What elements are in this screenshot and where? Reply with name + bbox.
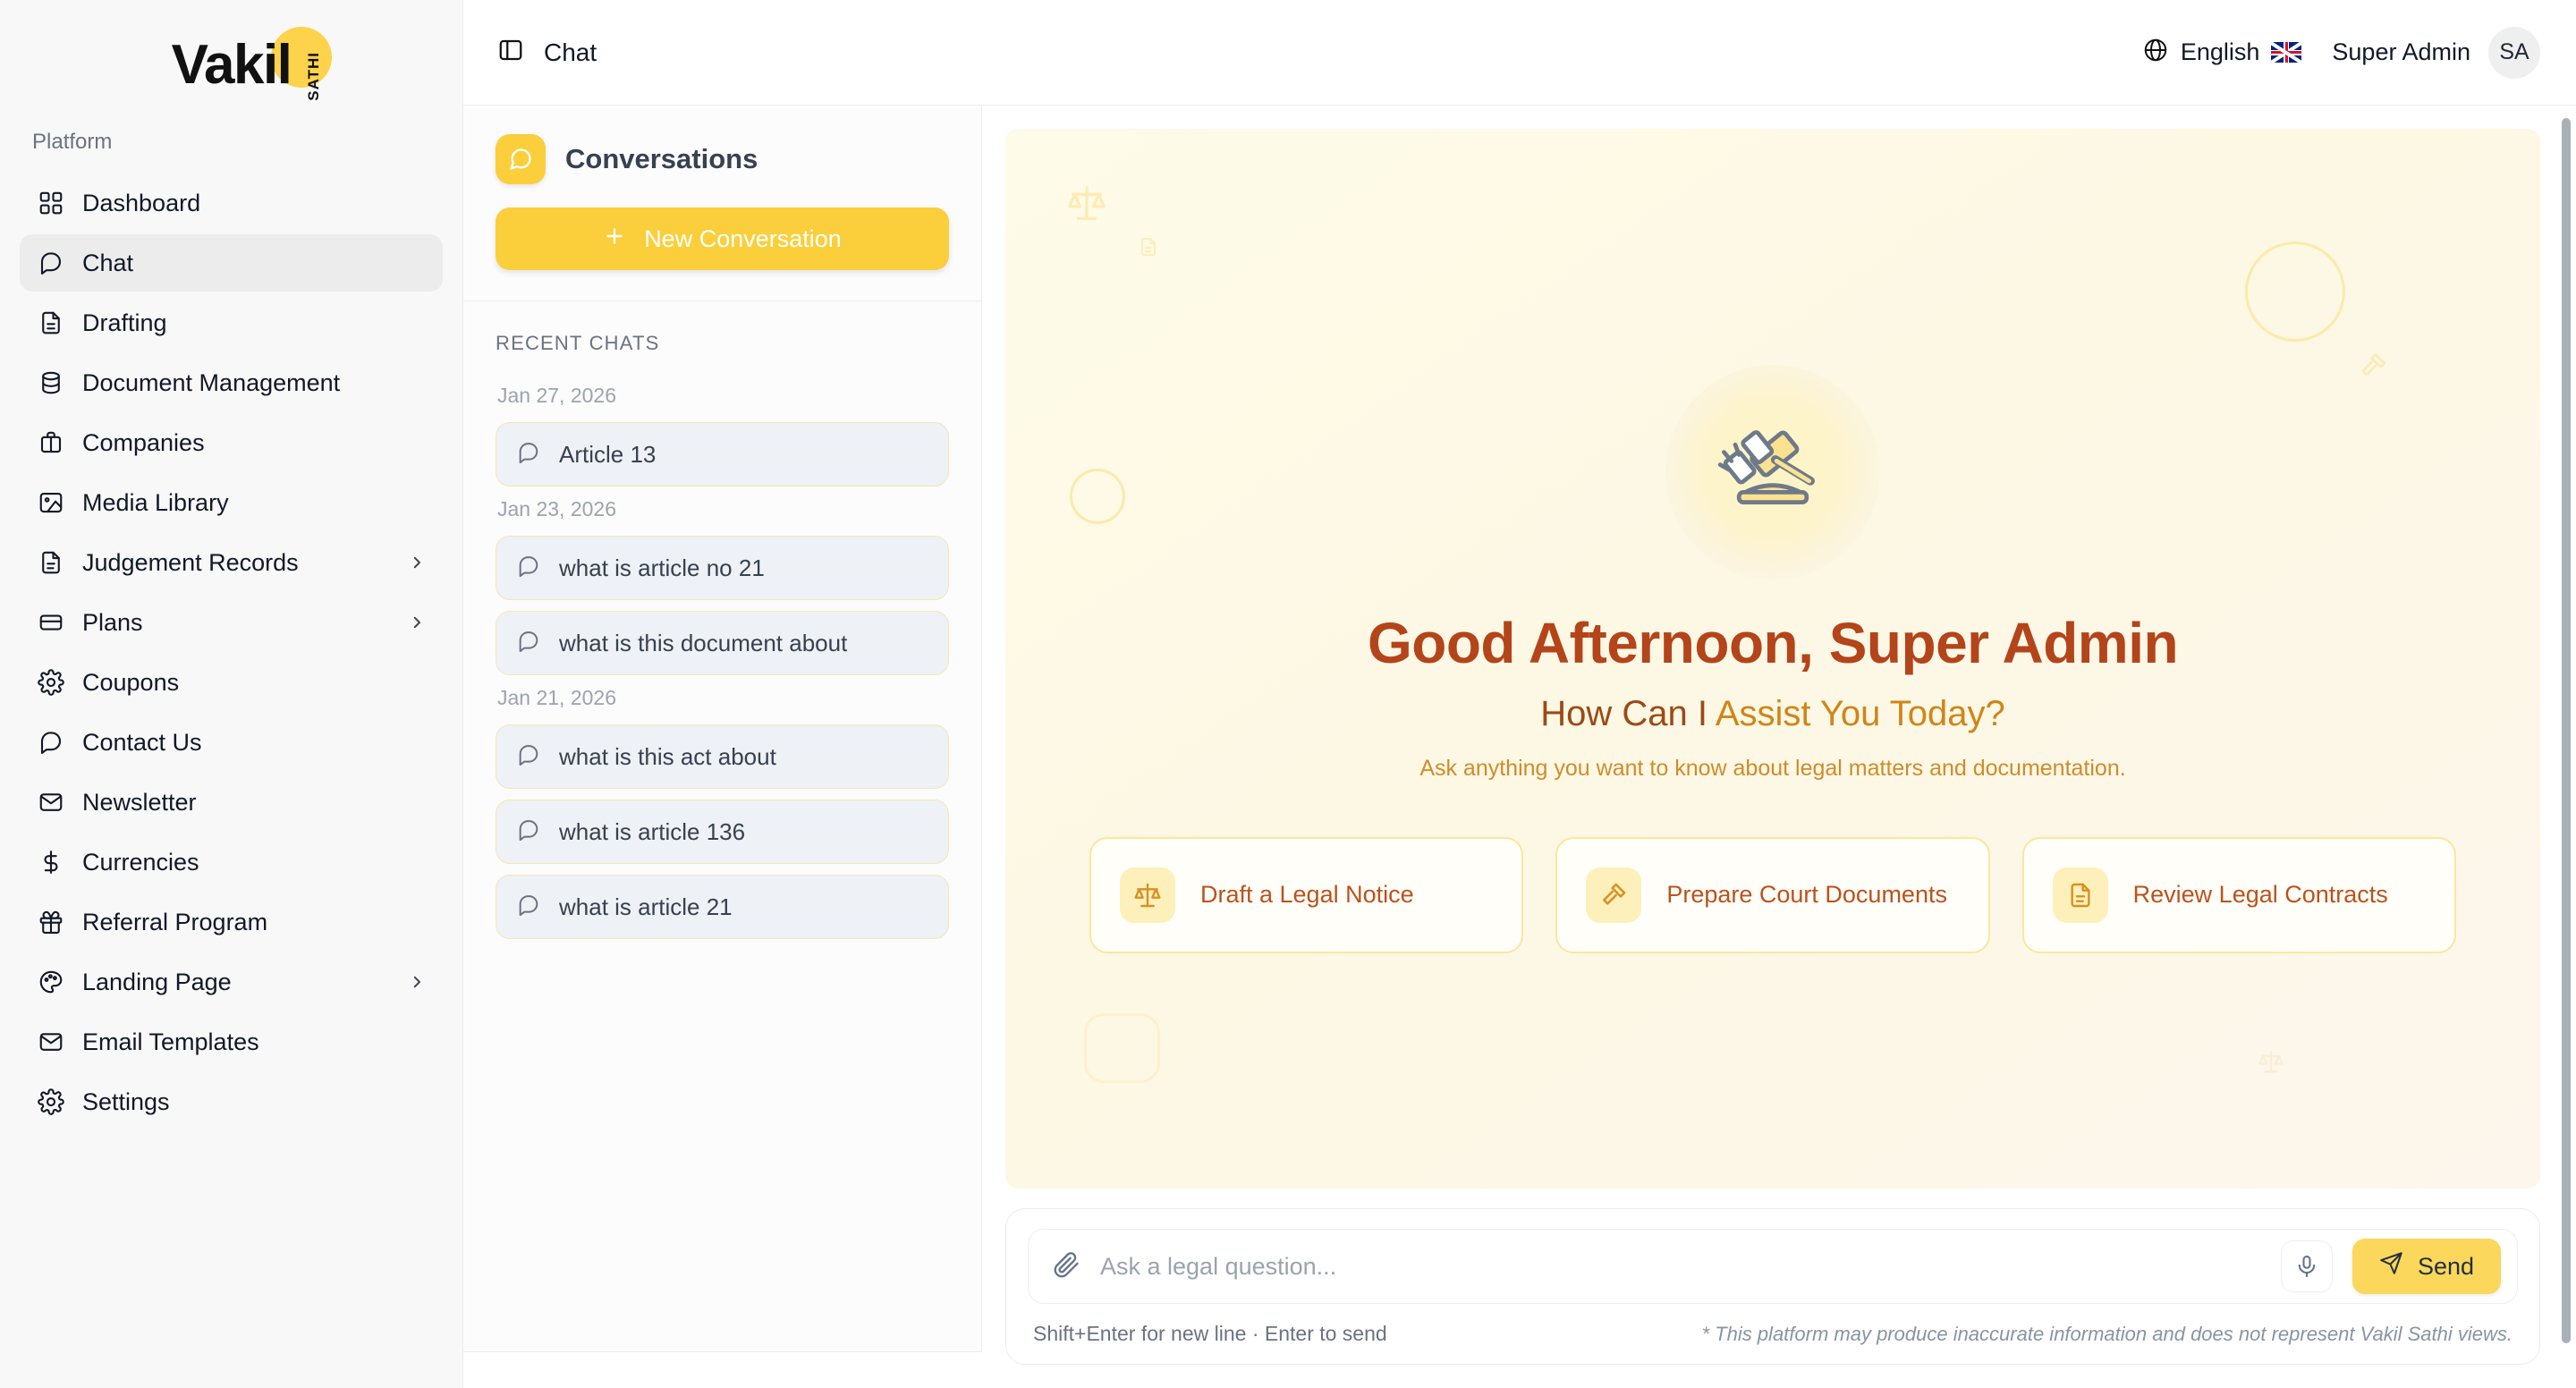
avatar[interactable]: SA [2488,27,2540,79]
chevron-right-icon[interactable] [409,974,425,990]
sidebar-item-contact-us[interactable]: Contact Us [20,714,443,771]
sidebar-item-settings[interactable]: Settings [20,1073,443,1130]
sidebar-nav: DashboardChatDraftingDocument Management… [0,174,462,1130]
hero-wrapper: Good Afternoon, Super Admin How Can I As… [982,106,2576,1189]
scales-icon [1120,867,1175,923]
sidebar-item-label: Currencies [82,849,425,876]
language-selector[interactable]: English [2142,37,2302,68]
list-item[interactable]: what is this document about [496,611,949,675]
chat-bubble-icon [516,440,541,470]
chat-item-title: what is article 21 [559,893,733,921]
conversations-title: Conversations [565,143,758,175]
sidebar-item-label: Media Library [82,489,425,517]
grid-icon [38,190,64,216]
dollar-icon [38,849,64,876]
conversations-header: Conversations New Conversation [463,106,981,301]
sidebar-item-plans[interactable]: Plans [20,594,443,651]
sidebar-item-label: Document Management [82,369,425,397]
gavel-illustration [1665,365,1880,580]
sidebar-item-label: Newsletter [82,789,425,817]
send-label: Send [2418,1253,2474,1281]
sidebar-toggle-icon[interactable] [497,37,524,68]
quick-action-card[interactable]: Review Legal Contracts [2022,837,2456,953]
globe-icon [2142,37,2169,68]
briefcase-icon [38,429,64,456]
list-item[interactable]: Article 13 [496,422,949,487]
uk-flag-icon [2271,42,2301,63]
sidebar-item-label: Settings [82,1088,425,1116]
app-root: Vakil SATHI Platform DashboardChatDrafti… [0,0,2576,1388]
topbar: Chat English Super Admin SA [463,0,2576,106]
sidebar-item-chat[interactable]: Chat [20,234,443,292]
quick-action-card[interactable]: Prepare Court Documents [1555,837,1989,953]
quick-action-cards: Draft a Legal NoticePrepare Court Docume… [1005,837,2540,953]
sidebar-item-label: Email Templates [82,1028,425,1056]
image-icon [38,489,64,516]
envelope-icon [38,789,64,816]
chat-item-title: what is this act about [559,743,776,771]
chat-bubble-icon [516,742,541,772]
chat-item-title: what is article no 21 [559,554,765,582]
chat-item-title: Article 13 [559,441,656,469]
sidebar-item-label: Companies [82,429,425,457]
paperclip-icon[interactable] [1052,1250,1080,1283]
quick-action-label: Review Legal Contracts [2133,881,2388,909]
envelope-icon [38,1028,64,1055]
chat-bubble-icon [516,893,541,922]
chat-list: Jan 27, 2026Article 13Jan 23, 2026what i… [463,377,981,968]
vertical-scrollbar[interactable] [2562,118,2571,1343]
assist-subheading-lead: How Can I [1540,694,1707,733]
database-icon [38,369,64,396]
message-input-row[interactable]: Ask a legal question... [1028,1229,2518,1304]
sidebar-section-label: Platform [0,130,462,155]
deco-scales-icon-2 [2258,1048,2284,1079]
chevron-right-icon[interactable] [409,554,425,571]
main-area: Chat English Super Admin SA [463,0,2576,1388]
deco-scales-icon [1066,182,1107,228]
language-label: English [2181,38,2260,66]
sidebar-item-drafting[interactable]: Drafting [20,294,443,351]
search-input[interactable]: Ask a legal question... [1100,1253,2261,1281]
conversations-panel: Conversations New Conversation RECENT CH… [463,106,982,1352]
user-menu[interactable]: Super Admin SA [2332,27,2540,79]
deco-document-icon [1138,236,1159,262]
quick-action-card[interactable]: Draft a Legal Notice [1089,837,1523,953]
file-text-icon [38,549,64,576]
sidebar-item-label: Dashboard [82,190,425,217]
user-name: Super Admin [2332,38,2470,66]
chat-item-title: what is article 136 [559,818,745,846]
sidebar-item-media-library[interactable]: Media Library [20,474,443,531]
greeting-heading: Good Afternoon, Super Admin [1005,610,2540,676]
sidebar-item-label: Judgement Records [82,549,391,577]
sidebar-item-referral-program[interactable]: Referral Program [20,893,443,951]
list-item[interactable]: what is this act about [496,724,949,789]
sidebar-item-email-templates[interactable]: Email Templates [20,1013,443,1071]
sidebar-item-document-management[interactable]: Document Management [20,354,443,411]
chat-bubble-icon [496,134,546,184]
assist-subheading-rest: Assist You Today? [1707,694,2005,733]
gear-icon [38,1088,64,1115]
hero-tagline: Ask anything you want to know about lega… [1005,756,2540,782]
chat-bubble-icon [516,817,541,847]
sidebar-item-judgement-records[interactable]: Judgement Records [20,534,443,591]
quick-action-label: Draft a Legal Notice [1200,881,1414,909]
sidebar-item-label: Chat [82,250,425,277]
logo-text: Vakil [172,38,292,93]
composer: Ask a legal question... [982,1189,2576,1388]
sidebar-item-label: Plans [82,609,391,637]
sidebar-item-companies[interactable]: Companies [20,414,443,471]
recent-chats-label: RECENT CHATS [463,301,981,377]
sidebar-item-coupons[interactable]: Coupons [20,654,443,711]
list-item[interactable]: what is article 136 [496,800,949,864]
quick-action-label: Prepare Court Documents [1666,881,1947,909]
sidebar-item-label: Contact Us [82,729,425,757]
chat-bubble-icon [38,250,64,276]
sidebar: Vakil SATHI Platform DashboardChatDrafti… [0,0,463,1388]
chat-bubble-icon [516,629,541,658]
chevron-right-icon[interactable] [409,614,425,631]
chat-date-label: Jan 21, 2026 [497,686,949,710]
sidebar-item-label: Landing Page [82,969,391,996]
sidebar-item-landing-page[interactable]: Landing Page [20,953,443,1011]
send-button[interactable]: Send [2352,1239,2501,1294]
document-icon [2053,867,2108,923]
sidebar-item-label: Drafting [82,309,425,337]
sidebar-item-label: Coupons [82,669,425,697]
chat-date-label: Jan 23, 2026 [497,497,949,521]
content-body: Conversations New Conversation RECENT CH… [463,106,2576,1388]
chat-bubble-icon [38,729,64,756]
composer-disclaimer: * This platform may produce inaccurate i… [1701,1323,2512,1346]
gavel-icon [1586,867,1641,923]
welcome-hero: Good Afternoon, Super Admin How Can I As… [1005,129,2540,1189]
chat-item-title: what is this document about [559,630,847,657]
chat-bubble-icon [516,554,541,583]
chat-date-label: Jan 27, 2026 [497,384,949,408]
card-icon [38,609,64,636]
palette-icon [38,969,64,995]
document-icon [38,309,64,336]
new-conversation-label: New Conversation [644,225,842,253]
composer-hint: Shift+Enter for new line · Enter to send [1033,1322,1387,1346]
logo-subtext: SATHI [306,52,321,101]
page-title: Chat [544,38,597,67]
gear-icon [38,669,64,696]
send-icon [2379,1251,2403,1282]
sidebar-item-newsletter[interactable]: Newsletter [20,774,443,831]
sidebar-item-label: Referral Program [82,909,425,936]
chat-pane: Good Afternoon, Super Admin How Can I As… [982,106,2576,1388]
sidebar-item-dashboard[interactable]: Dashboard [20,174,443,232]
plus-icon [603,224,626,254]
list-item[interactable]: what is article 21 [496,875,949,939]
microphone-icon[interactable] [2281,1240,2333,1292]
new-conversation-button[interactable]: New Conversation [496,207,949,270]
sidebar-item-currencies[interactable]: Currencies [20,834,443,891]
brand-logo[interactable]: Vakil SATHI [0,0,462,130]
deco-rounded-square [1084,1013,1160,1083]
deco-circle-right [2245,241,2345,342]
assist-subheading: How Can I Assist You Today? [1005,694,2540,734]
gift-icon [38,909,64,935]
list-item[interactable]: what is article no 21 [496,536,949,600]
